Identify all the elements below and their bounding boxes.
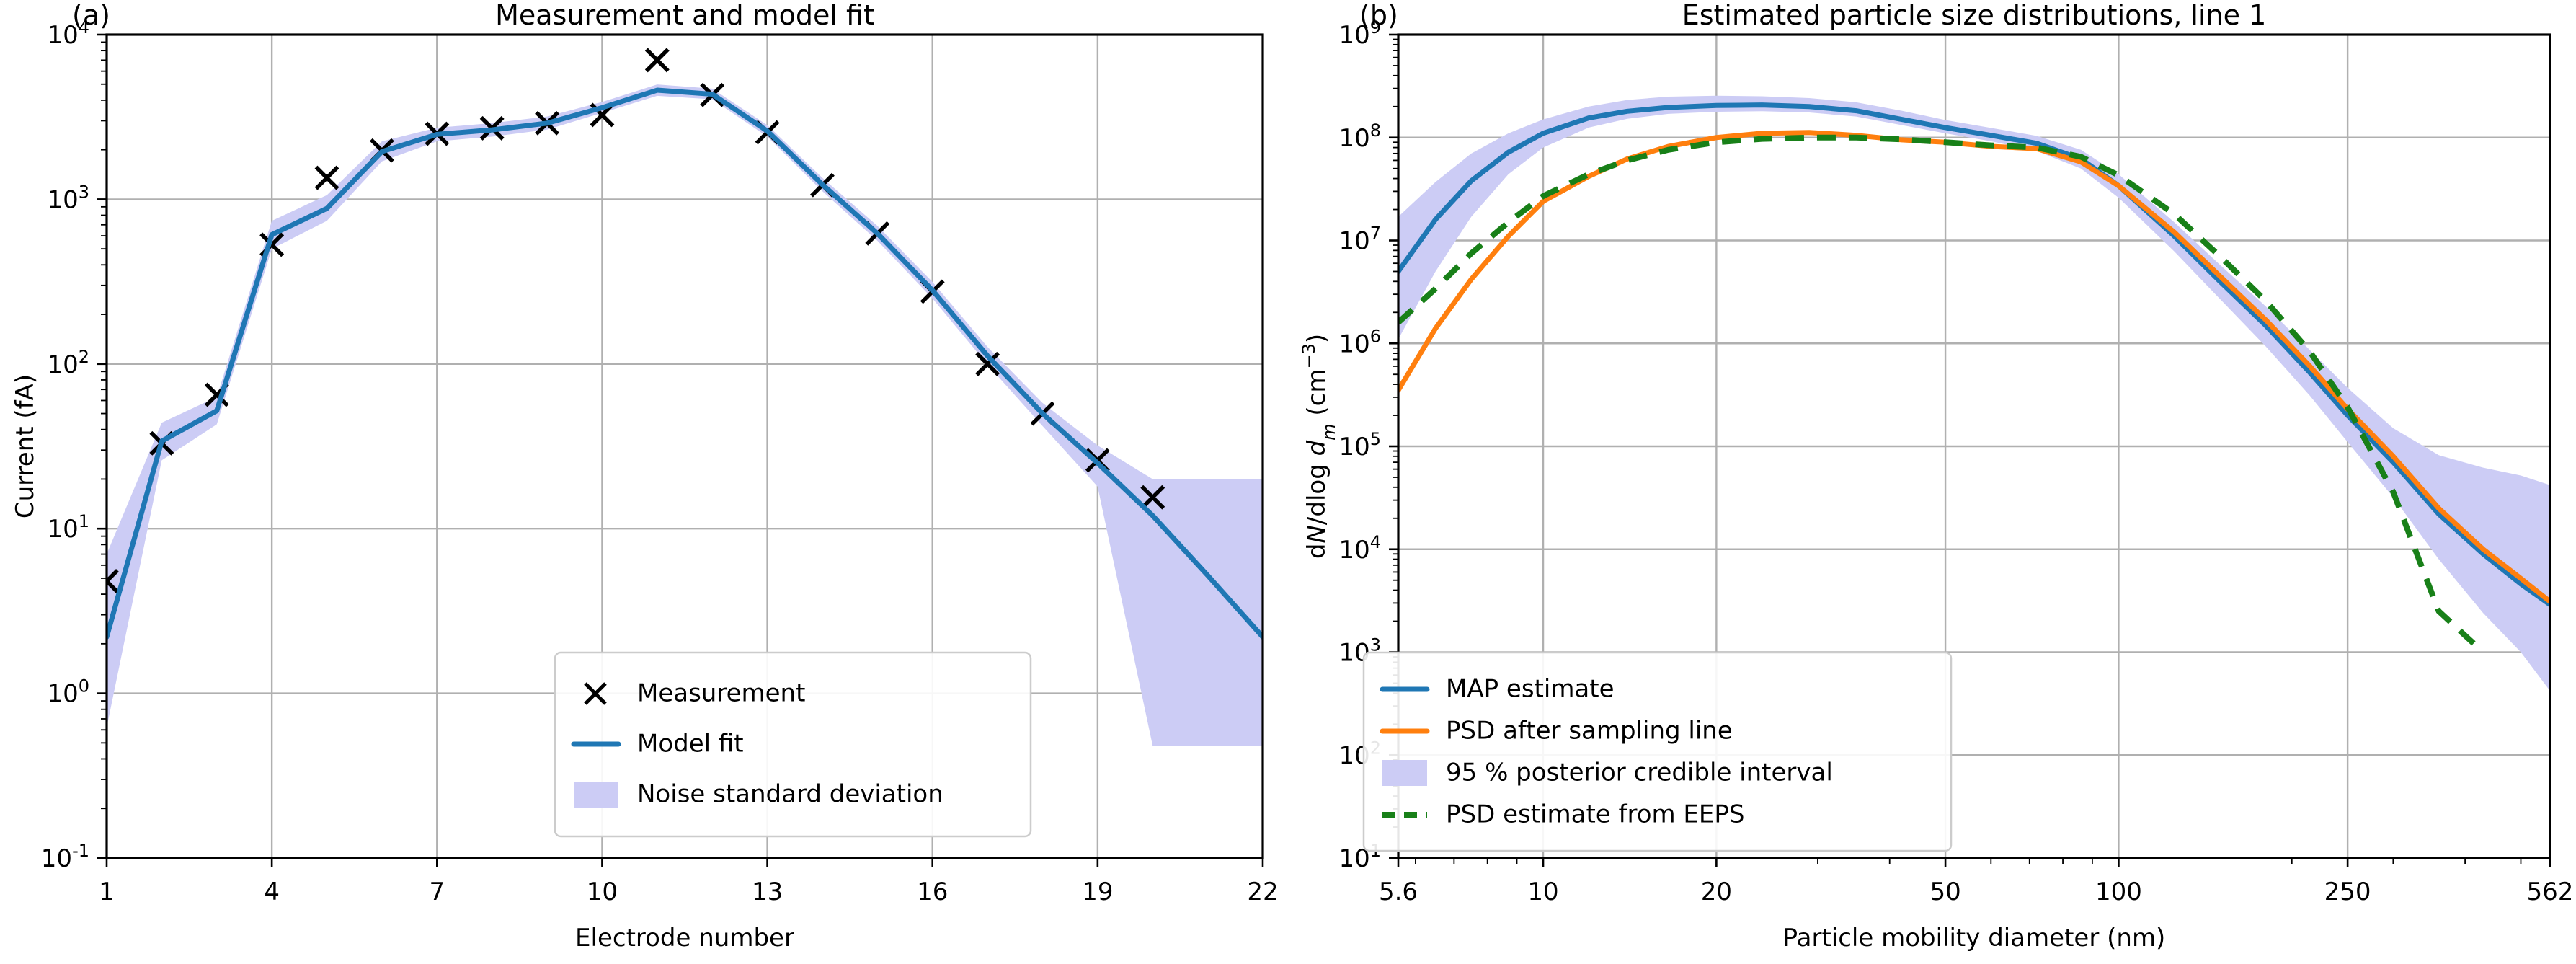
y-axis-label: Current (fA) <box>11 374 40 518</box>
y-tick-label: 100 <box>47 676 89 709</box>
x-tick-label: 19 <box>1082 877 1113 906</box>
legend-patch-icon <box>1382 760 1427 786</box>
legend-label: Model fit <box>637 730 744 759</box>
data-series <box>1398 96 2550 691</box>
chart-title: Estimated particle size distributions, l… <box>1682 0 2267 31</box>
svg-text:Current (fA): Current (fA) <box>11 374 40 518</box>
panel-b: (b)Estimated particle size distributions… <box>1290 0 2576 964</box>
y-tick-label: 102 <box>47 347 89 379</box>
y-tick-label: 109 <box>1338 17 1381 50</box>
x-axis-ticks: 5.6102050100250562 <box>1379 858 2573 906</box>
legend-label: Measurement <box>637 679 805 708</box>
x-tick-label: 5.6 <box>1379 877 1418 906</box>
x-tick-label: 10 <box>1527 877 1558 906</box>
x-tick-label: 562 <box>2527 877 2574 906</box>
y-tick-label: 107 <box>1338 224 1381 256</box>
y-axis-label: dN/dlog dm (cm−3) <box>1299 334 1339 559</box>
y-tick-label: 101 <box>47 511 89 544</box>
legend-label: MAP estimate <box>1446 675 1615 704</box>
panel-b-canvas: (b)Estimated particle size distributions… <box>1290 0 2576 964</box>
x-tick-label: 13 <box>752 877 783 906</box>
y-tick-label: 104 <box>47 17 89 50</box>
svg-text:dN/dlog dm (cm−3): dN/dlog dm (cm−3) <box>1299 334 1339 559</box>
x-tick-label: 100 <box>2095 877 2142 906</box>
legend-label: Noise standard deviation <box>637 780 943 809</box>
uncertainty-band-2 <box>107 84 1263 746</box>
legend-item[interactable]: 95 % posterior credible interval <box>1382 759 1833 787</box>
x-tick-label: 1 <box>99 877 115 906</box>
legend-label: 95 % posterior credible interval <box>1446 759 1833 787</box>
series-line-1 <box>1398 133 2550 602</box>
x-tick-label: 4 <box>264 877 280 906</box>
x-tick-label: 16 <box>917 877 948 906</box>
data-series <box>96 49 1263 746</box>
y-tick-label: 106 <box>1338 326 1381 358</box>
y-axis-ticks: 10-1100101102103104 <box>41 17 107 873</box>
y-tick-label: 104 <box>1338 532 1381 565</box>
x-tick-label: 22 <box>1247 877 1278 906</box>
chart-title: Measurement and model fit <box>495 0 874 31</box>
panel-a: (a)Measurement and model fit147101316192… <box>0 0 1297 964</box>
legend-patch-icon <box>574 782 618 808</box>
legend-label: PSD after sampling line <box>1446 717 1733 746</box>
x-tick-label: 10 <box>587 877 618 906</box>
y-tick-label: 103 <box>47 182 89 214</box>
x-axis-label: Particle mobility diameter (nm) <box>1783 924 2166 952</box>
measurement-markers <box>96 49 1163 592</box>
y-tick-label: 108 <box>1338 120 1381 153</box>
figure-root: (a)Measurement and model fit147101316192… <box>0 0 2576 964</box>
panel-a-canvas: (a)Measurement and model fit147101316192… <box>0 0 1297 964</box>
x-tick-label: 250 <box>2324 877 2371 906</box>
y-tick-label: 10-1 <box>41 841 89 873</box>
legend: MAP estimatePSD after sampling line95 % … <box>1364 653 1951 851</box>
x-tick-label: 7 <box>429 877 445 906</box>
legend: MeasurementModel fitNoise standard devia… <box>555 653 1031 836</box>
x-axis-label: Electrode number <box>575 924 794 952</box>
x-axis-ticks: 1471013161922 <box>99 858 1278 906</box>
x-tick-label: 50 <box>1929 877 1960 906</box>
x-tick-label: 20 <box>1701 877 1732 906</box>
legend-label: PSD estimate from EEPS <box>1446 800 1744 829</box>
y-tick-label: 105 <box>1338 429 1381 461</box>
